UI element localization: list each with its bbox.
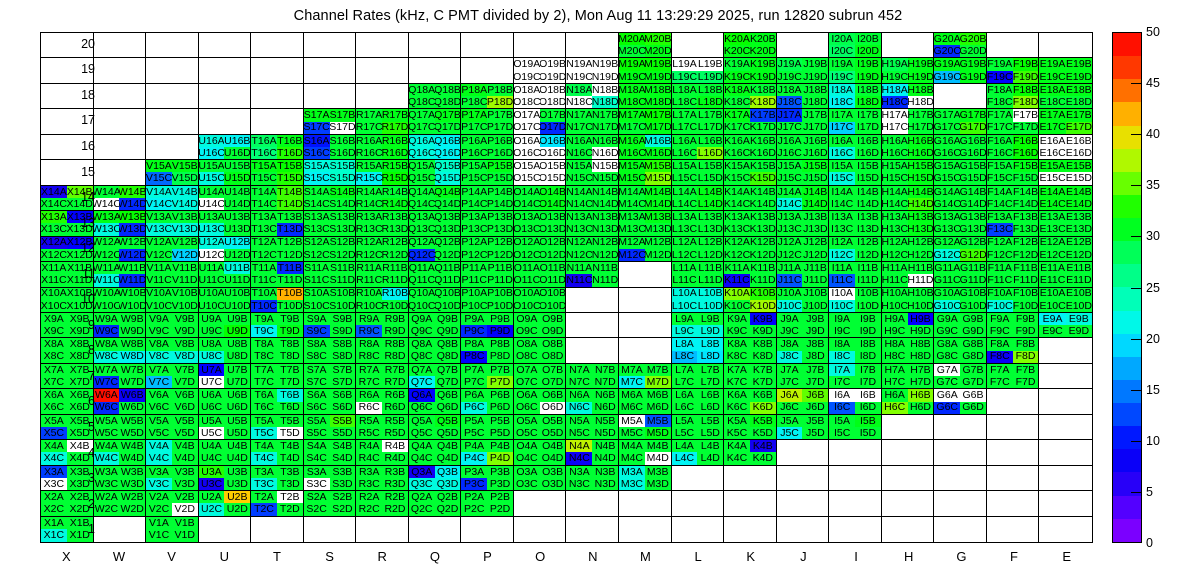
empty-cell	[882, 427, 908, 439]
channel-label: F16A	[987, 135, 1013, 147]
empty-cell	[224, 529, 250, 542]
channel-label: I18B	[855, 84, 881, 96]
empty-cell	[987, 33, 1013, 45]
channel-label: H9D	[908, 325, 934, 337]
heatmap-cell: S11AS11BS11CS11D	[304, 262, 357, 287]
channel-label: O13C	[514, 223, 540, 235]
channel-label: J9C	[777, 325, 803, 337]
channel-label: P18C	[461, 96, 487, 108]
heatmap-cell: P18AP18BP18CP18D	[461, 84, 514, 109]
channel-label: E13A	[1039, 211, 1065, 223]
heatmap-cell: O9AO9BO9CO9D	[514, 313, 567, 338]
channel-label: F13A	[987, 211, 1013, 223]
channel-label: V13A	[146, 211, 172, 223]
channel-label: Q7A	[409, 364, 435, 376]
channel-label: X12C	[41, 249, 67, 261]
channel-label: R15A	[356, 160, 382, 172]
channel-label: J10B	[802, 288, 828, 300]
channel-label: H12D	[908, 249, 934, 261]
channel-label: O12B	[540, 237, 566, 249]
empty-cell	[1066, 45, 1092, 57]
channel-label: P16B	[487, 135, 513, 147]
empty-cell	[592, 491, 618, 503]
heatmap-cell: I5AI5BI5CI5D	[829, 415, 882, 440]
empty-cell	[540, 33, 566, 45]
channel-label: H10C	[882, 300, 908, 312]
empty-cell	[1039, 491, 1065, 503]
channel-label: N14C	[566, 198, 592, 210]
channel-label: O11B	[540, 262, 566, 274]
empty-cell	[251, 71, 277, 83]
empty-cell	[251, 84, 277, 96]
channel-label: H17B	[908, 109, 934, 121]
heatmap-cell: I16AI16BI16CI16D	[829, 135, 882, 160]
empty-cell	[566, 288, 592, 300]
channel-label: T11D	[277, 274, 303, 286]
channel-label: L6C	[672, 402, 698, 414]
channel-label: W3A	[94, 466, 120, 478]
heatmap-cell: T13AT13BT13CT13D	[251, 211, 304, 236]
empty-cell	[514, 33, 540, 45]
heatmap-cell: L13AL13BL13CL13D	[672, 211, 725, 236]
channel-label: U12C	[199, 249, 225, 261]
empty-cell	[119, 122, 145, 134]
channel-label: S16A	[304, 135, 330, 147]
channel-label: L12C	[672, 249, 698, 261]
channel-label: V10D	[172, 300, 198, 312]
empty-cell	[697, 45, 723, 57]
channel-label: W9B	[119, 313, 145, 325]
channel-label: L14B	[697, 186, 723, 198]
empty-cell	[566, 313, 592, 325]
channel-label: J14C	[777, 198, 803, 210]
channel-label: J9A	[777, 313, 803, 325]
empty-cell	[94, 160, 120, 172]
channel-label: K17A	[724, 109, 750, 121]
channel-label: Q13A	[409, 211, 435, 223]
channel-label: T14B	[277, 186, 303, 198]
channel-label: J16D	[802, 147, 828, 159]
heatmap-cell: P6AP6BP6CP6D	[461, 389, 514, 414]
channel-label: Q6A	[409, 389, 435, 401]
channel-label: Q9A	[409, 313, 435, 325]
empty-cell	[882, 503, 908, 515]
channel-label: Q12C	[409, 249, 435, 261]
channel-label: T15B	[277, 160, 303, 172]
heatmap-cell	[777, 466, 830, 491]
empty-cell	[619, 517, 645, 530]
channel-label: L18C	[672, 96, 698, 108]
empty-cell	[829, 529, 855, 542]
channel-label: R12A	[356, 237, 382, 249]
channel-label: I9C	[829, 325, 855, 337]
channel-label: K8A	[724, 338, 750, 350]
channel-label: P4A	[461, 440, 487, 452]
channel-label: E9D	[1066, 325, 1092, 337]
channel-label: I14B	[855, 186, 881, 198]
empty-cell	[934, 440, 960, 452]
heatmap-cell: L8AL8BL8CL8D	[672, 338, 725, 363]
heatmap-cell: O6AO6BO6CO6D	[514, 389, 567, 414]
color-swatch	[1113, 403, 1141, 426]
channel-label: Q8C	[409, 351, 435, 363]
heatmap-cell	[566, 288, 619, 313]
heatmap-cell: W14AW14BW14CW14D	[94, 186, 147, 211]
channel-label: N13A	[566, 211, 592, 223]
empty-cell	[777, 517, 803, 530]
channel-label: R13D	[382, 223, 408, 235]
y-axis-tick: 11	[67, 267, 95, 281]
channel-label: M15D	[645, 172, 671, 184]
color-swatch	[1113, 172, 1141, 195]
channel-label: L15C	[672, 172, 698, 184]
heatmap-cell: V6AV6BV6CV6D	[146, 389, 199, 414]
channel-label: O7B	[540, 364, 566, 376]
channel-label: O4D	[540, 452, 566, 464]
channel-label: Q3C	[409, 478, 435, 490]
empty-cell	[382, 58, 408, 70]
channel-label: E9C	[1039, 325, 1065, 337]
heatmap-cell: E11AE11BE11CE11D	[1039, 262, 1092, 287]
channel-label: O6D	[540, 402, 566, 414]
channel-label: X6A	[41, 389, 67, 401]
empty-cell	[251, 529, 277, 542]
heatmap-cell: U11AU11BU11CU11D	[199, 262, 252, 287]
empty-cell	[619, 503, 645, 515]
channel-label: R10B	[382, 288, 408, 300]
empty-cell	[619, 262, 645, 274]
channel-label: H8A	[882, 338, 908, 350]
empty-cell	[199, 529, 225, 542]
channel-label: P4B	[487, 440, 513, 452]
channel-label: O6C	[514, 402, 540, 414]
channel-label: P10D	[487, 300, 513, 312]
channel-label: S11C	[304, 274, 330, 286]
empty-cell	[829, 517, 855, 530]
channel-label: P12C	[461, 249, 487, 261]
channel-label: J10D	[802, 300, 828, 312]
channel-label: N6A	[566, 389, 592, 401]
channel-label: O5B	[540, 415, 566, 427]
empty-cell	[987, 503, 1013, 515]
heatmap-cell: G12AG12BG12CG12D	[934, 237, 987, 262]
heatmap-cell: N13AN13BN13CN13D	[566, 211, 619, 236]
channel-label: L13B	[697, 211, 723, 223]
heatmap-cell: H16AH16BH16CH16D	[882, 135, 935, 160]
empty-cell	[934, 466, 960, 478]
channel-label: W7C	[94, 376, 120, 388]
channel-label: R9B	[382, 313, 408, 325]
channel-label: T14C	[251, 198, 277, 210]
heatmap-cell: F11AF11BF11CF11D	[987, 262, 1040, 287]
channel-label: O3A	[514, 466, 540, 478]
channel-label: L18B	[697, 84, 723, 96]
channel-label: G13C	[934, 223, 960, 235]
heatmap-cell: L5AL5BL5CL5D	[672, 415, 725, 440]
channel-label: O6B	[540, 389, 566, 401]
channel-label: J6C	[777, 402, 803, 414]
channel-label: T4C	[251, 452, 277, 464]
channel-label: V15A	[146, 160, 172, 172]
channel-label: G12D	[960, 249, 986, 261]
channel-label: F18C	[987, 96, 1013, 108]
empty-cell	[566, 517, 592, 530]
channel-label: L11D	[697, 274, 723, 286]
channel-label: F11D	[1013, 274, 1039, 286]
channel-label: U11D	[224, 274, 250, 286]
channel-label: S16C	[304, 147, 330, 159]
empty-cell	[960, 415, 986, 427]
empty-cell	[94, 122, 120, 134]
empty-cell	[672, 491, 698, 503]
empty-cell	[987, 415, 1013, 427]
empty-cell	[119, 135, 145, 147]
y-axis-tick: 5	[67, 420, 95, 434]
channel-label: G20D	[960, 45, 986, 57]
channel-label: Q17C	[409, 122, 435, 134]
empty-cell	[1066, 466, 1092, 478]
color-scale-tick-label: 20	[1146, 332, 1160, 346]
empty-cell	[119, 71, 145, 83]
channel-label: M17D	[645, 122, 671, 134]
channel-label: K5B	[750, 415, 776, 427]
channel-label: F10A	[987, 288, 1013, 300]
channel-label: G11D	[960, 274, 986, 286]
channel-label: G15A	[934, 160, 960, 172]
channel-label: R15D	[382, 172, 408, 184]
channel-label: F14A	[987, 186, 1013, 198]
channel-label: N19A	[566, 58, 592, 70]
channel-label: X5C	[41, 427, 67, 439]
channel-label: K15B	[750, 160, 776, 172]
y-axis-tick: 1	[67, 522, 95, 536]
channel-label: T11C	[251, 274, 277, 286]
empty-cell	[277, 529, 303, 542]
channel-label: F8B	[1013, 338, 1039, 350]
heatmap-cell: W4AW4BW4CW4D	[94, 440, 147, 465]
empty-cell	[777, 466, 803, 478]
channel-label: O16D	[540, 147, 566, 159]
channel-label: I17D	[855, 122, 881, 134]
channel-label: U9C	[199, 325, 225, 337]
channel-label: F9C	[987, 325, 1013, 337]
channel-label: T16B	[277, 135, 303, 147]
channel-label: K19C	[724, 71, 750, 83]
empty-cell	[697, 478, 723, 490]
heatmap-cell: W5AW5BW5CW5D	[94, 415, 147, 440]
channel-label: J5D	[802, 427, 828, 439]
heatmap-cell	[304, 58, 357, 83]
channel-label: U15C	[199, 172, 225, 184]
channel-label: X4C	[41, 452, 67, 464]
empty-cell	[882, 466, 908, 478]
empty-cell	[1013, 503, 1039, 515]
empty-cell	[987, 478, 1013, 490]
channel-label: E16C	[1039, 147, 1065, 159]
channel-label: X4A	[41, 440, 67, 452]
channel-label: P9B	[487, 313, 513, 325]
heatmap-cell: E13AE13BE13CE13D	[1039, 211, 1092, 236]
channel-label: S12C	[304, 249, 330, 261]
channel-label: R10A	[356, 288, 382, 300]
channel-label: T8C	[251, 351, 277, 363]
channel-label: U11C	[199, 274, 225, 286]
empty-cell	[146, 58, 172, 70]
channel-label: H13B	[908, 211, 934, 223]
empty-cell	[356, 84, 382, 96]
empty-cell	[645, 274, 671, 286]
heatmap-cell	[882, 466, 935, 491]
channel-label: P14C	[461, 198, 487, 210]
heatmap-cell	[514, 491, 567, 516]
channel-label: F16C	[987, 147, 1013, 159]
heatmap-cell: I18AI18BI18CI18D	[829, 84, 882, 109]
channel-label: V9A	[146, 313, 172, 325]
channel-label: L13D	[697, 223, 723, 235]
heatmap-cell: N18AN18BN18CN18D	[566, 84, 619, 109]
channel-label: N13B	[592, 211, 618, 223]
channel-label: K18C	[724, 96, 750, 108]
channel-label: P8C	[461, 351, 487, 363]
color-scale-tick-label: 0	[1146, 536, 1153, 550]
channel-label: N3B	[592, 466, 618, 478]
channel-label: O12A	[514, 237, 540, 249]
y-axis-tick: 4	[67, 446, 95, 460]
empty-cell	[1066, 440, 1092, 452]
empty-cell	[461, 517, 487, 530]
channel-label: R14D	[382, 198, 408, 210]
x-axis-tick: X	[46, 549, 86, 564]
channel-label: L7D	[697, 376, 723, 388]
channel-label: I11D	[855, 274, 881, 286]
channel-label: L7B	[697, 364, 723, 376]
channel-label: J10C	[777, 300, 803, 312]
color-scale-tick-mark	[1131, 134, 1142, 135]
empty-cell	[829, 503, 855, 515]
channel-label: M3D	[645, 478, 671, 490]
empty-cell	[882, 452, 908, 464]
empty-cell	[750, 529, 776, 542]
heatmap-cell	[356, 84, 409, 109]
empty-cell	[356, 517, 382, 530]
empty-cell	[960, 478, 986, 490]
channel-label: M19C	[619, 71, 645, 83]
channel-label: J19A	[777, 58, 803, 70]
empty-cell	[172, 109, 198, 121]
channel-label: H6A	[882, 389, 908, 401]
channel-label: G9D	[960, 325, 986, 337]
empty-cell	[1039, 452, 1065, 464]
channel-label: U5D	[224, 427, 250, 439]
heatmap-cell: G16AG16BG16CG16D	[934, 135, 987, 160]
channel-label: E19A	[1039, 58, 1065, 70]
channel-label: Q3D	[435, 478, 461, 490]
heatmap-cell: W9AW9BW9CW9D	[94, 313, 147, 338]
channel-label: Q14C	[409, 198, 435, 210]
channel-label: N19B	[592, 58, 618, 70]
heatmap-cell	[94, 160, 147, 185]
channel-label: L6A	[672, 389, 698, 401]
channel-label: P17D	[487, 122, 513, 134]
channel-label: J13B	[802, 211, 828, 223]
heatmap-cell: U10AU10BU10CU10D	[199, 288, 252, 313]
channel-label: M15B	[645, 160, 671, 172]
channel-label: E17B	[1066, 109, 1092, 121]
heatmap-cell: L7AL7BL7CL7D	[672, 364, 725, 389]
channel-label: I17B	[855, 109, 881, 121]
channel-label: U14D	[224, 198, 250, 210]
heatmap-cell: F17AF17BF17CF17D	[987, 109, 1040, 134]
channel-label: V12C	[146, 249, 172, 261]
empty-cell	[514, 517, 540, 530]
channel-label: Q3A	[409, 466, 435, 478]
channel-label: U6A	[199, 389, 225, 401]
channel-label: O18D	[540, 96, 566, 108]
heatmap-cell	[672, 33, 725, 58]
channel-label: G13D	[960, 223, 986, 235]
empty-cell	[697, 466, 723, 478]
empty-cell	[304, 96, 330, 108]
channel-label: V11A	[146, 262, 172, 274]
heatmap-cell: S14AS14BS14CS14D	[304, 186, 357, 211]
channel-label: E10B	[1066, 288, 1092, 300]
x-axis-tick: L	[678, 549, 718, 564]
channel-label: M20A	[619, 33, 645, 45]
empty-cell	[119, 147, 145, 159]
heatmap-cell: J7AJ7BJ7CJ7D	[777, 364, 830, 389]
channel-label: T4A	[251, 440, 277, 452]
heatmap-cell: S7AS7BS7CS7D	[304, 364, 357, 389]
channel-label: E12A	[1039, 237, 1065, 249]
channel-label: R16A	[356, 135, 382, 147]
channel-label: S17B	[330, 109, 356, 121]
channel-label: J6B	[802, 389, 828, 401]
channel-label: R2C	[356, 503, 382, 515]
channel-label: Q14B	[435, 186, 461, 198]
channel-label: G13B	[960, 211, 986, 223]
channel-label: F15A	[987, 160, 1013, 172]
empty-cell	[934, 84, 960, 96]
channel-label: L4D	[697, 452, 723, 464]
channel-label: O10D	[540, 300, 566, 312]
heatmap-cell	[882, 517, 935, 542]
channel-label: X9C	[41, 325, 67, 337]
channel-label: H13D	[908, 223, 934, 235]
channel-label: S2B	[330, 491, 356, 503]
heatmap-cell	[1039, 364, 1092, 389]
empty-cell	[855, 491, 881, 503]
x-axis-tick: M	[625, 549, 665, 564]
channel-label: E16A	[1039, 135, 1065, 147]
channel-label: H14A	[882, 186, 908, 198]
channel-label: S5D	[330, 427, 356, 439]
channel-label: X1A	[41, 517, 67, 530]
channel-label: K4C	[724, 452, 750, 464]
empty-cell	[94, 517, 120, 530]
channel-label: W6D	[119, 402, 145, 414]
empty-cell	[94, 135, 120, 147]
channel-label: T10C	[251, 300, 277, 312]
channel-label: R4C	[356, 452, 382, 464]
heatmap-cell: W11AW11BW11CW11D	[94, 262, 147, 287]
channel-label: H10B	[908, 288, 934, 300]
channel-label: T3A	[251, 466, 277, 478]
channel-label: U7D	[224, 376, 250, 388]
heatmap-cell: H18AH18BH18CH18D	[882, 84, 935, 109]
channel-label: G16A	[934, 135, 960, 147]
empty-cell	[566, 351, 592, 363]
channel-label: G15C	[934, 172, 960, 184]
